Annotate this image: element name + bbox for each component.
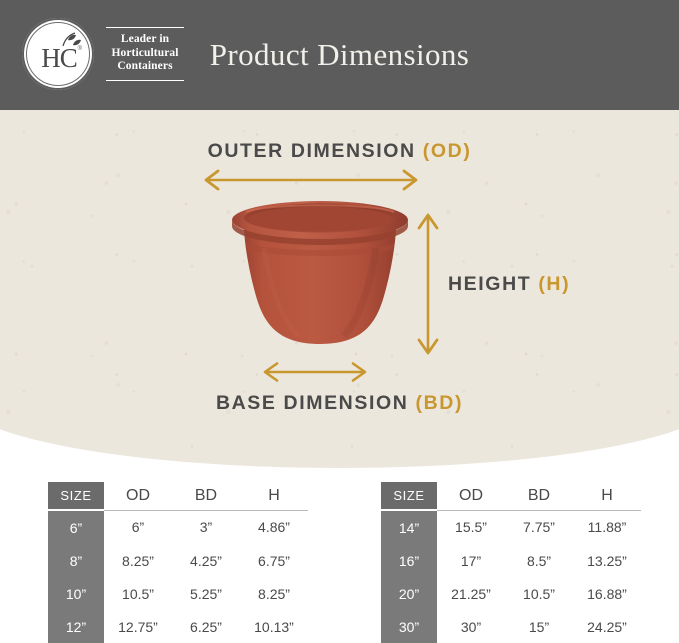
size-table-left: SIZE OD BD H 6” 6” 3” 4.86” 8” 8.25” 4.2… [48, 482, 308, 643]
cell-bd: 3” [172, 510, 240, 544]
table-body: 14” 15.5” 7.75” 11.88” 16” 17” 8.5” 13.2… [381, 510, 641, 643]
hc-logo-icon[interactable]: HC ® [22, 18, 94, 90]
cell-h: 24.25” [573, 610, 641, 643]
base-dimension-text: BASE DIMENSION [216, 392, 409, 414]
base-dimension-arrow [258, 360, 372, 384]
cell-bd: 15” [505, 610, 573, 643]
outer-dimension-code: (OD) [423, 140, 472, 162]
header-size: SIZE [48, 482, 104, 510]
height-arrow [415, 208, 441, 360]
cell-h: 11.88” [573, 510, 641, 544]
cell-od: 15.5” [437, 510, 505, 544]
cell-bd: 7.75” [505, 510, 573, 544]
cell-size: 10” [48, 577, 104, 610]
base-dimension-code: (BD) [415, 392, 463, 414]
cell-od: 10.5” [104, 577, 172, 610]
cell-bd: 10.5” [505, 577, 573, 610]
cell-od: 17” [437, 544, 505, 577]
table-row: 12” 12.75” 6.25” 10.13” [48, 610, 308, 643]
cell-od: 12.75” [104, 610, 172, 643]
header-od: OD [437, 482, 505, 510]
table-row: 8” 8.25” 4.25” 6.75” [48, 544, 308, 577]
table-row: 14” 15.5” 7.75” 11.88” [381, 510, 641, 544]
cell-size: 30” [381, 610, 437, 643]
table-body: 6” 6” 3” 4.86” 8” 8.25” 4.25” 6.75” 10” … [48, 510, 308, 643]
cell-h: 13.25” [573, 544, 641, 577]
height-code: (H) [538, 273, 570, 295]
header-size: SIZE [381, 482, 437, 510]
pot-illustration [224, 198, 416, 358]
size-table-right: SIZE OD BD H 14” 15.5” 7.75” 11.88” 16” … [381, 482, 641, 643]
cell-bd: 8.5” [505, 544, 573, 577]
header-h: H [573, 482, 641, 510]
cell-h: 6.75” [240, 544, 308, 577]
cell-od: 8.25” [104, 544, 172, 577]
header-band: Product Dimensions HC ® Leader in Hortic… [0, 0, 679, 110]
cell-size: 14” [381, 510, 437, 544]
table-header-row: SIZE OD BD H [381, 482, 641, 510]
cell-h: 4.86” [240, 510, 308, 544]
tagline-rule-top [106, 27, 184, 28]
cell-od: 30” [437, 610, 505, 643]
height-text: HEIGHT [448, 273, 531, 295]
table-header-row: SIZE OD BD H [48, 482, 308, 510]
cell-size: 20” [381, 577, 437, 610]
header-bd: BD [505, 482, 573, 510]
tagline-line-3: Containers [106, 60, 184, 74]
tagline-lines: Leader in Horticultural Containers [106, 30, 184, 78]
outer-dimension-text: OUTER DIMENSION [208, 140, 416, 162]
cell-size: 12” [48, 610, 104, 643]
trademark-symbol: ® [78, 46, 82, 52]
outer-dimension-arrow [198, 168, 424, 192]
cell-size: 8” [48, 544, 104, 577]
cell-h: 8.25” [240, 577, 308, 610]
cell-od: 21.25” [437, 577, 505, 610]
cell-size: 6” [48, 510, 104, 544]
header-od: OD [104, 482, 172, 510]
tagline-line-2: Horticultural [106, 47, 184, 61]
base-dimension-label: BASE DIMENSION (BD) [0, 392, 679, 415]
table-row: 20” 21.25” 10.5” 16.88” [381, 577, 641, 610]
brand-block[interactable]: HC ® Leader in Horticultural Containers [22, 18, 184, 90]
cell-h: 10.13” [240, 610, 308, 643]
height-label: HEIGHT (H) [448, 273, 570, 296]
cell-bd: 6.25” [172, 610, 240, 643]
table-row: 16” 17” 8.5” 13.25” [381, 544, 641, 577]
tagline-rule-bottom [106, 80, 184, 81]
cell-bd: 4.25” [172, 544, 240, 577]
table-row: 30” 30” 15” 24.25” [381, 610, 641, 643]
logo-letters: HC [41, 43, 77, 74]
cell-size: 16” [381, 544, 437, 577]
table-row: 6” 6” 3” 4.86” [48, 510, 308, 544]
cell-bd: 5.25” [172, 577, 240, 610]
table-row: 10” 10.5” 5.25” 8.25” [48, 577, 308, 610]
brand-tagline: Leader in Horticultural Containers [106, 22, 184, 86]
header-bd: BD [172, 482, 240, 510]
header-h: H [240, 482, 308, 510]
cell-od: 6” [104, 510, 172, 544]
cell-h: 16.88” [573, 577, 641, 610]
tagline-line-1: Leader in [106, 33, 184, 47]
outer-dimension-label: OUTER DIMENSION (OD) [0, 140, 679, 163]
